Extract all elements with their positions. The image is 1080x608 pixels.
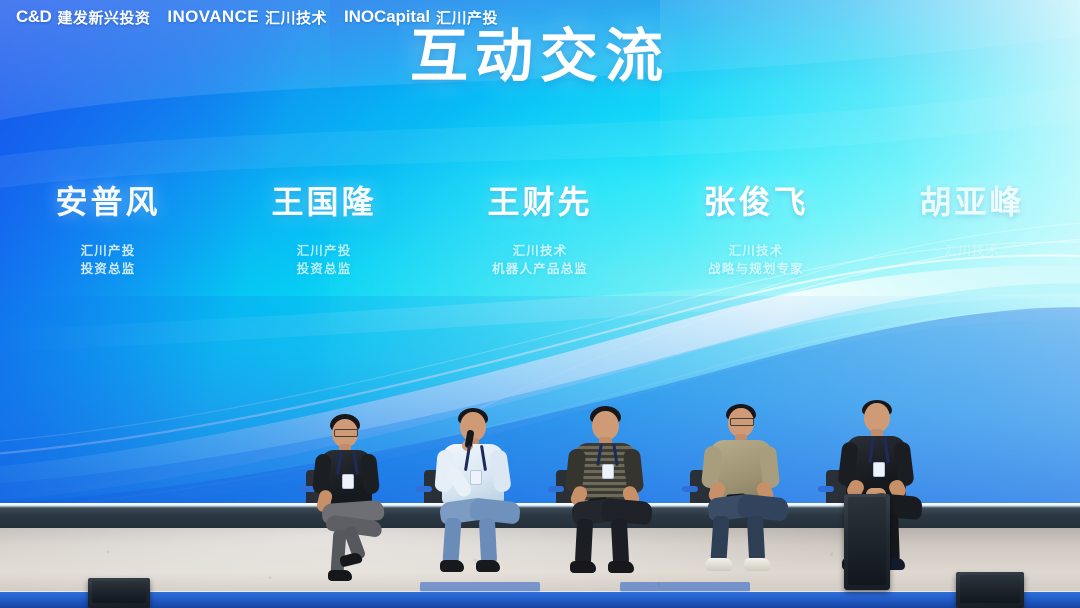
glasses-icon — [334, 429, 358, 437]
stage-monitor-speaker-right — [956, 572, 1024, 608]
shoe — [328, 570, 352, 581]
logo-cd-group: C&D 建发新兴投资 — [16, 7, 150, 28]
panelist-role: 汇川技术 — [864, 242, 1080, 260]
panelist-org: 汇川技术 — [648, 242, 864, 260]
panelist-org: 汇川产投 — [0, 242, 216, 260]
panelist-role: 汇川产投 投资总监 — [0, 242, 216, 278]
speaker-grille — [848, 497, 886, 585]
shin-left — [710, 515, 729, 562]
name-badge — [873, 462, 885, 477]
panelist-card-5: 胡亚峰 汇川技术 — [864, 182, 1080, 260]
panelist-name: 王国隆 — [216, 182, 432, 224]
sneaker — [706, 558, 733, 571]
logo-inovance-group: INOVANCE 汇川技术 — [167, 7, 327, 28]
head — [592, 411, 619, 440]
session-title: 互动交流 — [0, 26, 1080, 89]
panelist-card-2: 王国隆 汇川产投 投资总监 — [216, 182, 432, 278]
thigh-right — [469, 497, 521, 524]
stage-monitor-speaker-left — [88, 578, 150, 608]
conference-stage-photo: C&D 建发新兴投资 INOVANCE 汇川技术 INOCapital 汇川产投… — [0, 0, 1080, 608]
glasses-icon — [730, 418, 754, 426]
arm-right — [360, 453, 380, 494]
stage-front-edge-strip — [0, 592, 1080, 608]
panelist-figure-1 — [296, 414, 406, 584]
panelist-name: 安普风 — [0, 182, 216, 224]
panelist-role: 汇川技术 机器人产品总监 — [432, 242, 648, 278]
panelist-role: 汇川技术 战略与规划专家 — [648, 242, 864, 278]
inovance-logo-label: 汇川技术 — [265, 7, 327, 28]
panelist-name: 张俊飞 — [648, 182, 864, 224]
cd-logo-label: 建发新兴投资 — [57, 7, 150, 28]
panelist-figure-3 — [552, 406, 666, 586]
inocapital-logo-label: 汇川产投 — [436, 7, 498, 28]
panelist-figure-2 — [418, 408, 538, 584]
stage-monitor-speaker-center — [844, 494, 890, 590]
shin-right — [479, 518, 497, 565]
speaker-grille — [960, 575, 1020, 603]
panelist-title: 机器人产品总监 — [432, 260, 648, 278]
panelist-card-3: 王财先 汇川技术 机器人产品总监 — [432, 182, 648, 278]
inovance-logo-mark: INOVANCE — [167, 7, 259, 27]
panelist-org: 汇川产投 — [216, 242, 432, 260]
panelist-name-row: 安普风 汇川产投 投资总监 王国隆 汇川产投 投资总监 王财先 汇川技术 机器人… — [0, 182, 1080, 292]
panelist-name: 胡亚峰 — [864, 182, 1080, 224]
panelist-name: 王财先 — [432, 182, 648, 224]
panelist-org: 汇川技术 — [864, 242, 1080, 260]
name-badge — [470, 470, 482, 485]
panelist-card-1: 安普风 汇川产投 投资总监 — [0, 182, 216, 278]
shoe — [440, 560, 464, 572]
logo-inocapital-group: INOCapital 汇川产投 — [344, 7, 498, 28]
shin-right — [611, 519, 629, 566]
panelist-card-4: 张俊飞 汇川技术 战略与规划专家 — [648, 182, 864, 278]
speaker-grille — [92, 581, 146, 603]
shoe — [476, 560, 500, 572]
panelist-title: 投资总监 — [0, 260, 216, 278]
panelist-role: 汇川产投 投资总监 — [216, 242, 432, 278]
cd-logo-mark: C&D — [16, 7, 51, 27]
shin-left — [575, 519, 593, 566]
inocapital-logo-mark: INOCapital — [344, 7, 430, 27]
shin-lower — [330, 530, 346, 575]
panelist-title: 投资总监 — [216, 260, 432, 278]
head — [864, 403, 890, 432]
shin-left — [442, 517, 461, 564]
shoe — [570, 561, 596, 573]
sneaker — [744, 558, 771, 571]
panelist-org: 汇川技术 — [432, 242, 648, 260]
thigh-right — [601, 498, 653, 525]
name-badge — [342, 474, 354, 489]
panelist-title: 战略与规划专家 — [648, 260, 864, 278]
name-badge — [602, 464, 614, 479]
sponsor-logo-bar: C&D 建发新兴投资 INOVANCE 汇川技术 INOCapital 汇川产投 — [0, 0, 1080, 34]
shin-right — [747, 516, 765, 563]
shoe — [608, 561, 634, 573]
panelist-figure-4 — [688, 404, 800, 586]
